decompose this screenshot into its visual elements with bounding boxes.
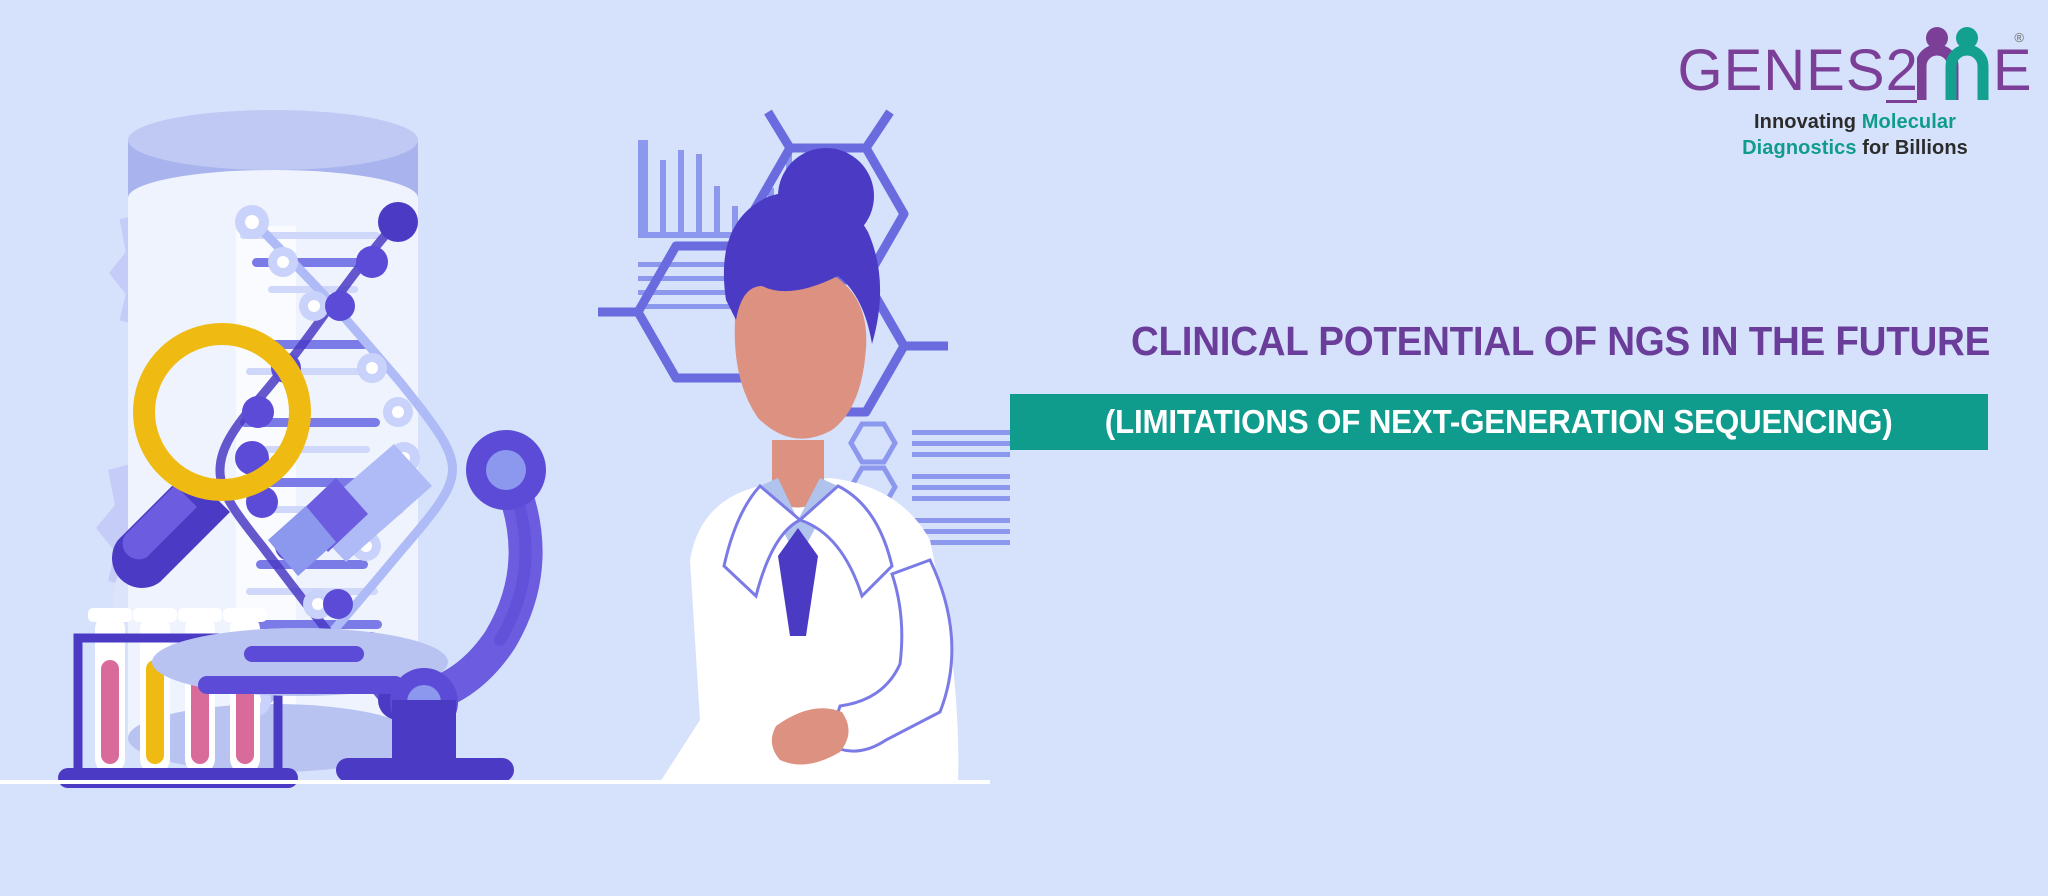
tagline-for-billions: for Billions — [1862, 137, 1968, 159]
logo-text-2: 2 — [1886, 42, 1919, 100]
registered-trademark-icon: ® — [2014, 30, 2024, 45]
tagline-molecular: Molecular — [1862, 111, 1956, 133]
hero-illustration — [0, 0, 1010, 820]
two-people-m-icon — [1917, 26, 1995, 100]
page-title: CLINICAL POTENTIAL OF NGS IN THE FUTURE — [1059, 318, 1990, 365]
brand-logo[interactable]: GENES 2 E ® Innovating Molecular Diagnos… — [1690, 22, 2020, 162]
logo-text-e: E — [1993, 42, 2033, 100]
subtitle-text: (LIMITATIONS OF NEXT-GENERATION SEQUENCI… — [1105, 403, 1893, 441]
banner: GENES 2 E ® Innovating Molecular Diagnos… — [0, 0, 2048, 896]
tagline-line-1: Innovating Molecular — [1690, 109, 2020, 135]
logo-wordmark: GENES 2 E ® — [1690, 22, 2020, 100]
subtitle-banner: (LIMITATIONS OF NEXT-GENERATION SEQUENCI… — [1010, 394, 1988, 450]
logo-tagline: Innovating Molecular Diagnostics for Bil… — [1690, 109, 2020, 162]
tagline-innovating: Innovating — [1754, 111, 1856, 133]
tagline-line-2: Diagnostics for Billions — [1690, 135, 2020, 161]
tagline-diagnostics: Diagnostics — [1742, 137, 1856, 159]
logo-text-genes: GENES — [1678, 42, 1886, 100]
